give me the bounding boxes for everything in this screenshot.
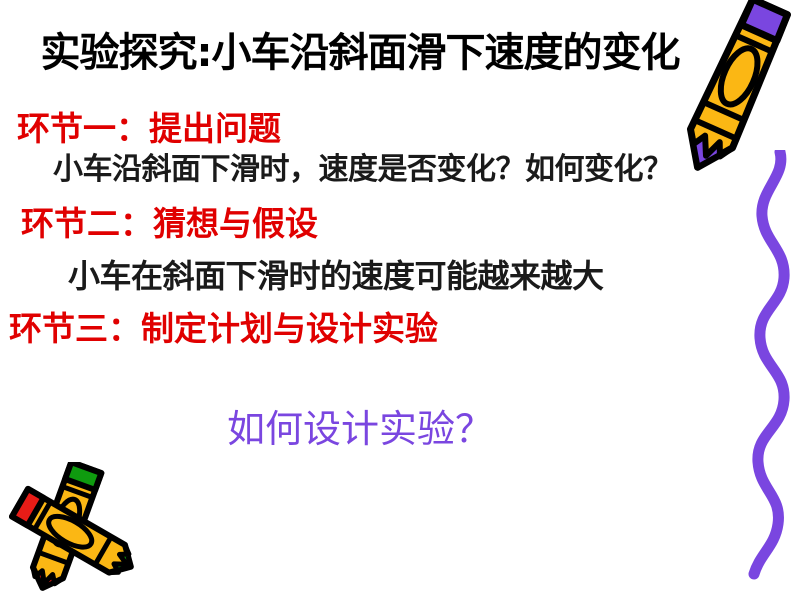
stage-heading-1: 环节一：提出问题 — [17, 108, 281, 150]
purple-wavy-line-icon — [690, 150, 800, 580]
stage-heading-2: 环节二：猜想与假设 — [21, 203, 318, 245]
crossed-crayons-icon — [2, 462, 202, 600]
closing-question: 如何设计实验？ — [0, 404, 720, 454]
page-title: 实验探究:小车沿斜面滑下速度的变化 — [0, 26, 720, 80]
stage-body-2: 小车在斜面下滑时的速度可能越来越大 — [68, 256, 604, 296]
stage-body-1: 小车沿斜面下滑时，速度是否变化？如何变化？ — [53, 150, 673, 190]
presentation-slide: 实验探究:小车沿斜面滑下速度的变化 环节一：提出问题 小车沿斜面下滑时，速度是否… — [0, 0, 800, 600]
stage-heading-3: 环节三：制定计划与设计实验 — [9, 308, 438, 350]
